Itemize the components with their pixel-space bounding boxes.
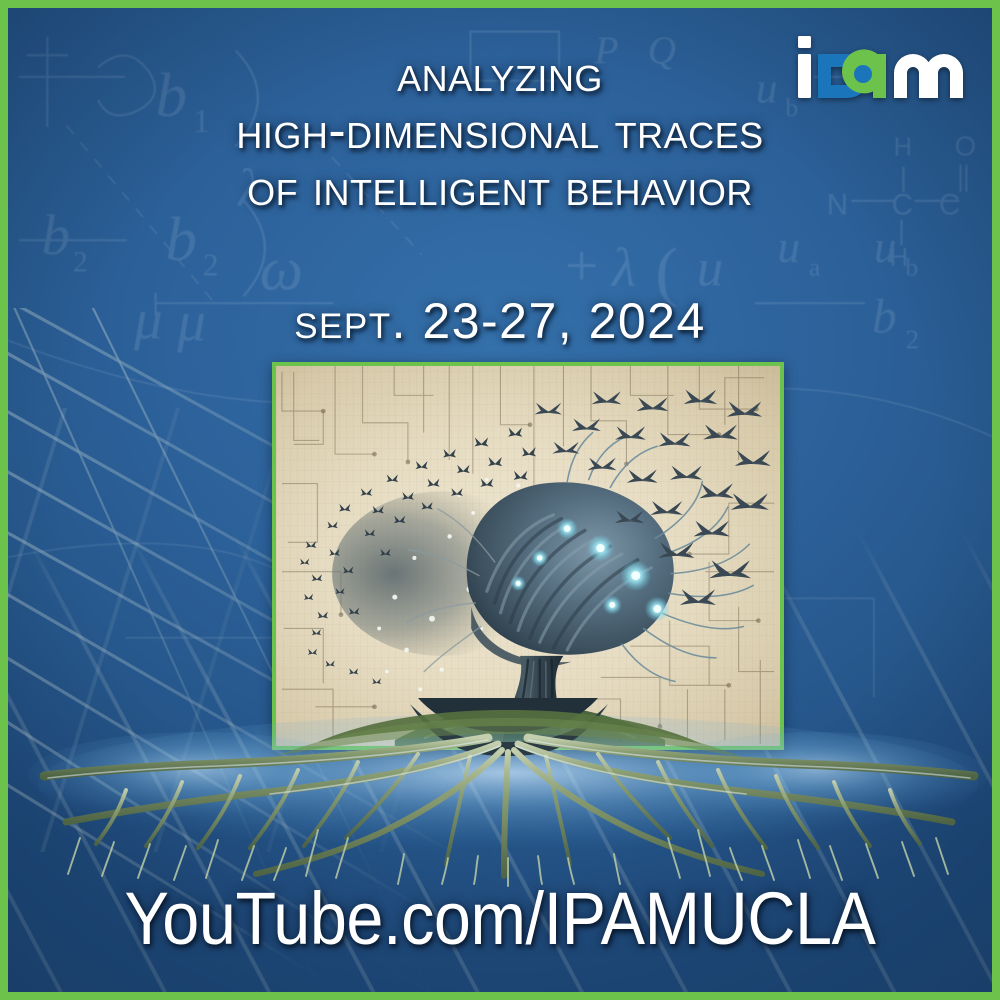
artwork-brain-tree-scene bbox=[276, 366, 780, 746]
artwork-panel bbox=[272, 362, 784, 750]
logo-letter-i bbox=[798, 36, 811, 98]
promo-card: b 1 b 2 b 2 N C C O H H bbox=[0, 0, 1000, 1000]
ground-mound bbox=[395, 705, 665, 746]
ipam-logo[interactable] bbox=[794, 26, 970, 104]
logo-letter-m bbox=[894, 54, 963, 98]
